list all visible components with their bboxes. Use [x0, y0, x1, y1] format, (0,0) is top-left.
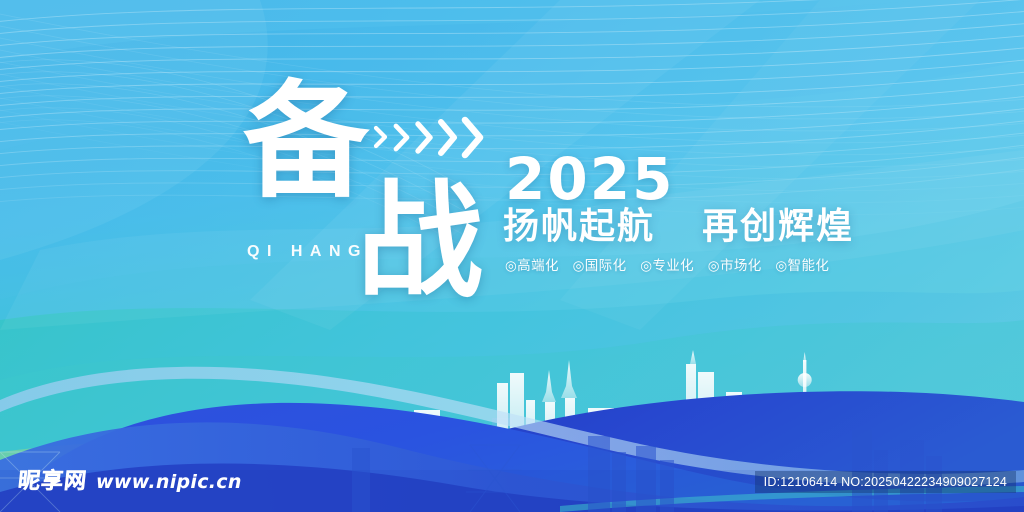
nipic-url: www.nipic.cn: [96, 471, 242, 493]
slogan-left: 扬帆起航: [503, 206, 655, 247]
headline-pinyin: QI HANG: [247, 243, 368, 261]
nipic-logo: 昵享网: [17, 471, 88, 493]
keyword-item: ◎专业化: [640, 258, 694, 274]
keyword-item: ◎高端化: [505, 258, 559, 274]
keyword-item: ◎国际化: [573, 258, 627, 274]
image-id-badge: ID:12106414 NO:20250422234909027124: [755, 471, 1016, 493]
keyword-item: ◎市场化: [708, 258, 762, 274]
year-text: 2025: [505, 150, 674, 208]
chevron-arrows-icon: [372, 116, 492, 162]
poster-canvas: 备 战 QI HANG 2025 扬帆起航 再创辉煌 ◎高端化 ◎国际化 ◎专业…: [0, 0, 1024, 512]
watermark: 昵享网 www.nipic.cn: [18, 471, 242, 493]
slogan-right: 再创辉煌: [702, 206, 854, 247]
keyword-item: ◎智能化: [775, 258, 829, 274]
keyword-list: ◎高端化 ◎国际化 ◎专业化 ◎市场化 ◎智能化: [505, 254, 829, 274]
slogan-text: 扬帆起航 再创辉煌: [503, 208, 854, 246]
headline-char-bei: 备: [243, 78, 369, 204]
headline-char-zhan: 战: [357, 178, 483, 304]
